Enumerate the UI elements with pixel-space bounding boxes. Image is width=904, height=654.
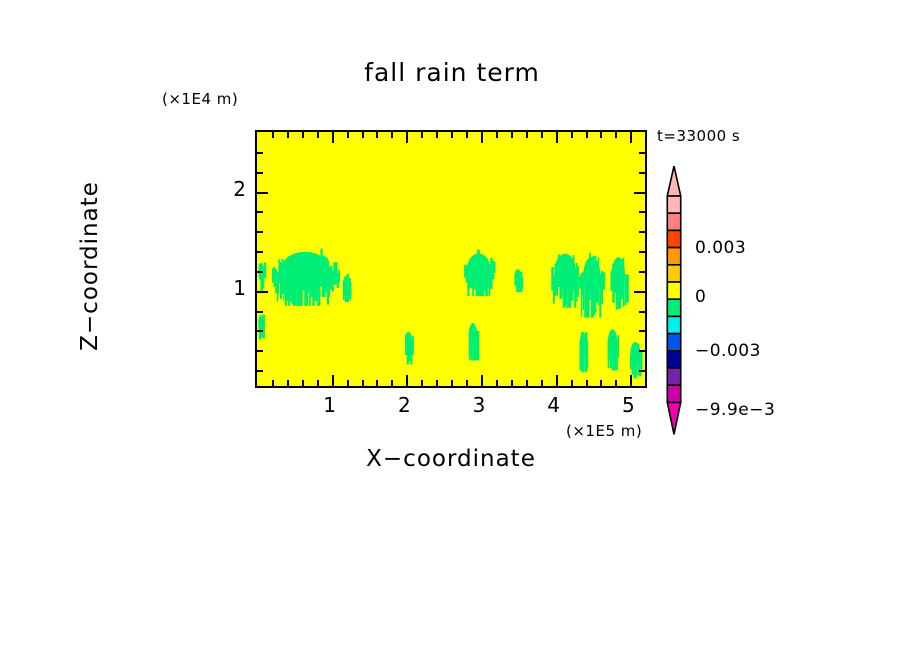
tick-mark xyxy=(511,380,513,386)
tick-mark xyxy=(645,380,647,386)
tick-mark xyxy=(272,132,274,138)
colorbar-tick-label: −0.003 xyxy=(695,341,761,361)
tick-mark xyxy=(257,231,263,233)
tick-mark xyxy=(391,380,393,386)
tick-mark xyxy=(639,330,645,332)
tick-mark xyxy=(630,132,632,143)
y-tick-label: 1 xyxy=(210,276,246,300)
tick-mark xyxy=(481,375,483,386)
contour-feature xyxy=(579,332,588,372)
colorbar-band xyxy=(667,316,680,333)
colorbar-swatches xyxy=(662,166,686,436)
tick-mark xyxy=(257,291,268,293)
colorbar-band xyxy=(667,265,680,282)
tick-mark xyxy=(586,132,588,138)
contour-feature xyxy=(464,250,495,297)
colorbar-band xyxy=(667,213,680,230)
contour-feature xyxy=(581,253,605,318)
tick-mark xyxy=(257,311,263,313)
x-tick-label: 1 xyxy=(310,393,350,417)
tick-mark xyxy=(526,132,528,138)
contour-feature xyxy=(551,254,581,308)
tick-mark xyxy=(639,311,645,313)
tick-mark xyxy=(257,172,263,174)
contour-feature xyxy=(272,249,340,306)
tick-mark xyxy=(421,380,423,386)
tick-mark xyxy=(436,380,438,386)
page-title: fall rain term xyxy=(0,58,904,87)
colorbar-band xyxy=(667,385,680,402)
tick-mark xyxy=(257,350,263,352)
tick-mark xyxy=(272,380,274,386)
colorbar-band xyxy=(667,248,680,265)
colorbar-bottom-cap xyxy=(667,402,680,434)
tick-mark xyxy=(600,132,602,138)
contour-feature xyxy=(343,274,352,302)
tick-mark xyxy=(317,132,319,138)
tick-mark xyxy=(257,271,263,273)
tick-mark xyxy=(645,132,647,138)
tick-mark xyxy=(571,380,573,386)
tick-mark xyxy=(317,380,319,386)
colorbar-top-cap xyxy=(667,166,680,196)
tick-mark xyxy=(347,380,349,386)
tick-mark xyxy=(302,132,304,138)
y-axis-title: Z−coordinate xyxy=(77,116,103,416)
tick-mark xyxy=(257,330,263,332)
time-annotation: t=33000 s xyxy=(657,127,740,145)
tick-mark xyxy=(639,251,645,253)
tick-mark xyxy=(257,192,268,194)
y-axis-unit-label: (×1E4 m) xyxy=(162,90,238,108)
tick-mark xyxy=(406,375,408,386)
tick-mark xyxy=(541,380,543,386)
tick-mark xyxy=(257,211,263,213)
colorbar xyxy=(662,166,686,402)
tick-mark xyxy=(332,375,334,386)
tick-mark xyxy=(451,132,453,138)
tick-mark xyxy=(556,132,558,143)
tick-mark xyxy=(302,380,304,386)
tick-mark xyxy=(347,132,349,138)
tick-mark xyxy=(257,251,263,253)
x-tick-label: 2 xyxy=(384,393,424,417)
contour-feature xyxy=(258,262,266,293)
contour-feature xyxy=(630,342,643,378)
x-axis-unit-label: (×1E5 m) xyxy=(566,422,642,440)
x-tick-label: 5 xyxy=(608,393,648,417)
colorbar-band xyxy=(667,196,680,213)
tick-mark xyxy=(639,271,645,273)
tick-mark xyxy=(639,152,645,154)
colorbar-band xyxy=(667,351,680,368)
tick-mark xyxy=(287,380,289,386)
tick-mark xyxy=(496,132,498,138)
colorbar-band xyxy=(667,230,680,247)
colorbar-tick-label: −9.9e−3 xyxy=(695,400,775,420)
x-tick-label: 3 xyxy=(459,393,499,417)
plot-area xyxy=(255,130,647,388)
tick-mark xyxy=(639,231,645,233)
contour-feature xyxy=(469,323,480,361)
colorbar-band xyxy=(667,299,680,316)
tick-mark xyxy=(466,132,468,138)
tick-mark xyxy=(451,380,453,386)
tick-mark xyxy=(496,380,498,386)
tick-mark xyxy=(362,380,364,386)
tick-mark xyxy=(257,152,263,154)
tick-mark xyxy=(639,172,645,174)
x-tick-label: 4 xyxy=(534,393,574,417)
tick-mark xyxy=(586,380,588,386)
tick-mark xyxy=(511,132,513,138)
tick-mark xyxy=(600,380,602,386)
tick-mark xyxy=(481,132,483,143)
colorbar-band xyxy=(667,282,680,299)
tick-mark xyxy=(615,380,617,386)
tick-mark xyxy=(556,375,558,386)
tick-mark xyxy=(332,132,334,143)
tick-mark xyxy=(639,211,645,213)
tick-mark xyxy=(526,380,528,386)
contour-feature xyxy=(611,257,629,310)
contour-feature xyxy=(608,329,619,370)
y-tick-label: 2 xyxy=(210,177,246,201)
tick-mark xyxy=(421,132,423,138)
colorbar-band xyxy=(667,334,680,351)
contour-feature xyxy=(514,269,523,292)
tick-mark xyxy=(376,380,378,386)
colorbar-tick-label: 0 xyxy=(695,287,706,307)
tick-mark xyxy=(466,380,468,386)
tick-mark xyxy=(362,132,364,138)
tick-mark xyxy=(634,192,645,194)
tick-mark xyxy=(436,132,438,138)
tick-mark xyxy=(571,132,573,138)
tick-mark xyxy=(615,132,617,138)
tick-mark xyxy=(639,370,645,372)
tick-mark xyxy=(634,291,645,293)
colorbar-band xyxy=(667,368,680,385)
contour-feature xyxy=(258,315,265,340)
tick-mark xyxy=(406,132,408,143)
contour-feature xyxy=(405,332,414,365)
colorbar-tick-label: 0.003 xyxy=(695,238,746,258)
tick-mark xyxy=(639,350,645,352)
tick-mark xyxy=(376,132,378,138)
tick-mark xyxy=(287,132,289,138)
tick-mark xyxy=(630,375,632,386)
tick-mark xyxy=(257,370,263,372)
tick-mark xyxy=(391,132,393,138)
tick-mark xyxy=(541,132,543,138)
contour-field xyxy=(257,132,645,386)
x-axis-title: X−coordinate xyxy=(255,446,647,472)
